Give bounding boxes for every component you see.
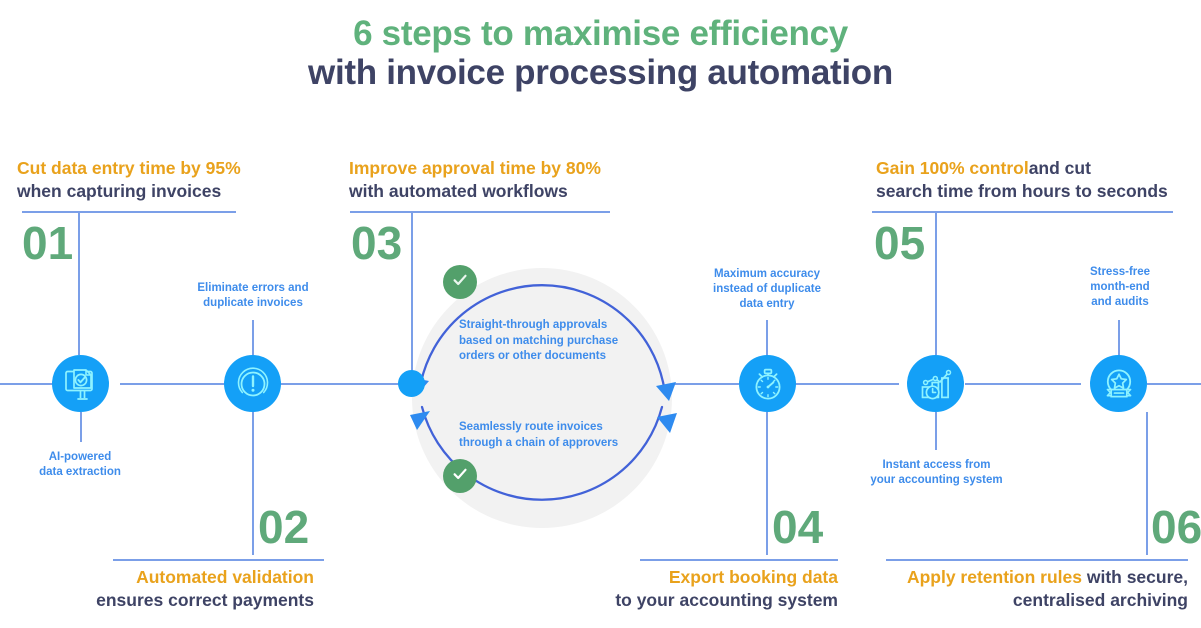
step-04-connector: [766, 412, 768, 555]
step-05-caption: Instant access from your accounting syst…: [865, 458, 1008, 488]
step-02-number: 02: [258, 504, 309, 550]
workflow-bottom-text: Seamlessly route invoices through a chai…: [459, 420, 679, 451]
step-06-caption-line-1: Stress-free: [1090, 266, 1150, 278]
step-06-headline-line-2: centralised archiving: [1013, 590, 1188, 610]
step-02-headline-gold: Automated validation: [136, 567, 314, 587]
step-02-rule: [113, 559, 324, 561]
spine-segment-1-2: [120, 383, 226, 385]
star-badge-ribbon-icon: [1101, 366, 1137, 402]
stopwatch-icon: [750, 366, 786, 402]
step-02-connector: [252, 412, 254, 555]
step-04-caption-connector: [766, 320, 768, 356]
workflow-check-bottom: [443, 459, 477, 493]
step-02-caption: Eliminate errors and duplicate invoices: [183, 281, 323, 311]
step-03-icon-node[interactable]: [398, 370, 425, 397]
step-04-caption: Maximum accuracy instead of duplicate da…: [697, 267, 837, 313]
workflow-top-text-line-2: based on matching purchase: [459, 335, 618, 347]
exclamation-alert-icon: [235, 366, 271, 402]
step-06-headline-gold: Apply retention rules: [907, 567, 1082, 587]
step-02-headline-rest: ensures correct payments: [96, 590, 314, 610]
workflow-bottom-text-line-2: through a chain of approvers: [459, 437, 618, 449]
page-title: 6 steps to maximise efficiency with invo…: [0, 14, 1201, 92]
step-06-caption-line-3: and audits: [1091, 296, 1149, 308]
step-02-icon-node[interactable]: [224, 355, 281, 412]
step-04-headline-gold: Export booking data: [669, 567, 838, 587]
step-01-headline: Cut data entry time by 95% when capturin…: [17, 157, 317, 204]
workflow-bottom-text-line-1: Seamlessly route invoices: [459, 421, 603, 433]
step-05-rule: [872, 211, 1173, 213]
step-05-headline: Gain 100% controland cut search time fro…: [876, 157, 1196, 204]
spine-segment-5-6: [965, 383, 1081, 385]
spine-segment-right: [1147, 383, 1201, 385]
step-06-number: 06: [1151, 504, 1201, 550]
step-04-rule: [640, 559, 838, 561]
step-06-caption-line-2: month-end: [1090, 281, 1149, 293]
step-04-caption-line-1: Maximum accuracy: [714, 268, 820, 280]
step-02-headline: Automated validation ensures correct pay…: [24, 566, 314, 613]
workflow-top-text-line-3: orders or other documents: [459, 350, 606, 362]
step-04-icon-node[interactable]: [739, 355, 796, 412]
title-line-1: 6 steps to maximise efficiency: [0, 14, 1201, 53]
step-01-headline-rest: when capturing invoices: [17, 181, 221, 201]
workflow-top-text-line-1: Straight-through approvals: [459, 319, 607, 331]
step-02-caption-connector: [252, 320, 254, 356]
step-06-rule: [886, 559, 1188, 561]
step-01-caption-line-1: AI-powered: [49, 451, 112, 463]
step-01-number: 01: [22, 220, 73, 266]
monitor-document-check-icon: [63, 367, 99, 401]
step-01-caption-line-2: data extraction: [39, 466, 121, 478]
step-04-caption-line-2: instead of duplicate: [713, 283, 821, 295]
step-01-headline-gold: Cut data entry time by 95%: [17, 158, 241, 178]
step-05-caption-line-2: your accounting system: [870, 474, 1002, 486]
step-01-caption-connector: [80, 412, 82, 442]
step-06-caption-connector: [1118, 320, 1120, 356]
step-05-caption-connector: [935, 412, 937, 450]
step-01-rule: [22, 211, 236, 213]
check-mark-icon: [451, 271, 469, 294]
workflow-check-top: [443, 265, 477, 299]
step-04-number: 04: [772, 504, 823, 550]
step-02-caption-line-2: duplicate invoices: [203, 297, 303, 309]
step-05-headline-line-2: search time from hours to seconds: [876, 181, 1168, 201]
step-05-caption-line-1: Instant access from: [882, 459, 990, 471]
step-04-headline: Export booking data to your accounting s…: [548, 566, 838, 613]
step-05-number: 05: [874, 220, 925, 266]
step-01-icon-node[interactable]: [52, 355, 109, 412]
infographic-canvas: 6 steps to maximise efficiency with invo…: [0, 0, 1201, 628]
bar-chart-clock-icon: [918, 366, 954, 402]
step-02-caption-line-1: Eliminate errors and: [197, 282, 308, 294]
step-05-headline-gold: Gain 100% control: [876, 158, 1029, 178]
step-03-headline-rest: with automated workflows: [349, 181, 568, 201]
step-03-rule: [350, 211, 610, 213]
step-05-connector: [935, 211, 937, 355]
step-03-headline: Improve approval time by 80% with automa…: [349, 157, 669, 204]
step-03-number: 03: [351, 220, 402, 266]
step-06-icon-node[interactable]: [1090, 355, 1147, 412]
spine-segment-2-3: [280, 383, 400, 385]
step-03-headline-gold: Improve approval time by 80%: [349, 158, 601, 178]
title-line-2: with invoice processing automation: [0, 53, 1201, 92]
step-05-headline-rest: and cut: [1029, 158, 1091, 178]
step-01-connector: [78, 211, 80, 355]
workflow-top-text: Straight-through approvals based on matc…: [459, 318, 679, 365]
step-04-caption-line-3: data entry: [740, 298, 795, 310]
spine-segment-4-5: [795, 383, 899, 385]
workflow-circular-arrows: [398, 255, 688, 545]
step-06-connector: [1146, 412, 1148, 555]
step-06-headline: Apply retention rules with secure, centr…: [860, 566, 1188, 613]
check-mark-icon: [451, 465, 469, 488]
step-06-caption: Stress-free month-end and audits: [1070, 265, 1170, 311]
step-04-headline-rest: to your accounting system: [615, 590, 838, 610]
step-06-headline-rest: with secure,: [1087, 567, 1188, 587]
step-05-icon-node[interactable]: [907, 355, 964, 412]
step-01-caption: AI-powered data extraction: [10, 450, 150, 480]
